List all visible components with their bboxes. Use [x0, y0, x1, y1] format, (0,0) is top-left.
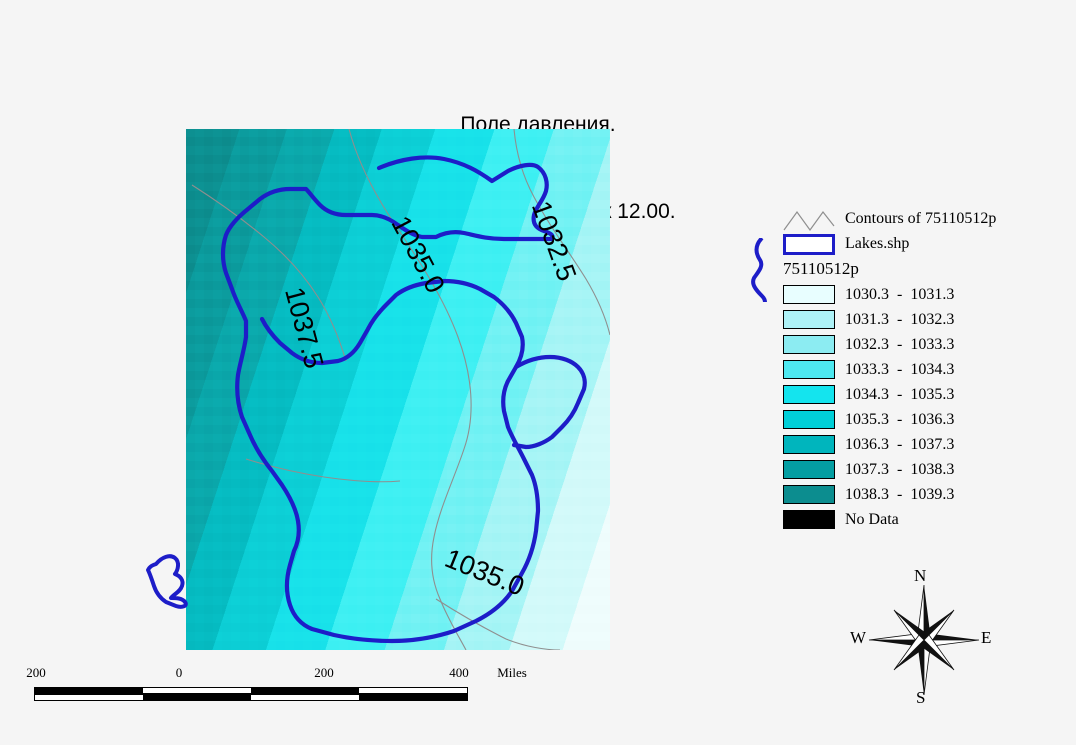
legend-class-label: 1032.3 - 1033.3 [845, 335, 954, 354]
scale-tick-1: 0 [176, 665, 183, 681]
legend-class-row[interactable]: 1033.3 - 1034.3 [783, 357, 1073, 382]
class-swatch-icon [783, 310, 835, 329]
class-swatch-icon [783, 510, 835, 529]
legend-class-label: 1031.3 - 1032.3 [845, 310, 954, 329]
legend-class-label: 1037.3 - 1038.3 [845, 460, 954, 479]
lake-polygon-legend-edge [748, 238, 774, 302]
legend-contours-label: Contours of 75110512p [845, 209, 996, 228]
class-swatch-icon [783, 335, 835, 354]
legend-class-row-no-data[interactable]: No Data [783, 507, 1073, 532]
class-swatch-icon [783, 285, 835, 304]
class-swatch-icon [783, 485, 835, 504]
scale-bar-labels: 200 0 200 400 Miles [34, 665, 554, 683]
legend-class-row[interactable]: 1035.3 - 1036.3 [783, 407, 1073, 432]
legend-class-row[interactable]: 1031.3 - 1032.3 [783, 307, 1073, 332]
scale-tick-3: 400 [449, 665, 469, 681]
legend-class-label: 1035.3 - 1036.3 [845, 410, 954, 429]
scale-cell [143, 688, 251, 693]
scale-bar-row-bottom [34, 694, 468, 701]
scale-cell [359, 688, 467, 693]
scale-tick-0: 200 [26, 665, 46, 681]
lake-polygon-southwest[interactable] [142, 548, 196, 614]
compass-label-south: S [916, 688, 925, 708]
scale-cell [251, 695, 359, 700]
compass-rose: N E S W [848, 566, 1000, 714]
class-swatch-icon [783, 410, 835, 429]
scale-cell [359, 695, 467, 700]
legend-class-row[interactable]: 1030.3 - 1031.3 [783, 282, 1073, 307]
scale-bar-row-top [34, 687, 468, 694]
map-canvas[interactable]: 1037.5 1035.0 1032.5 1035.0 [186, 129, 610, 650]
scale-bar-units: Miles [497, 665, 527, 681]
contour-line-icon [783, 209, 835, 228]
legend-item-lakes[interactable]: Lakes.shp [783, 231, 1073, 256]
legend-class-label: 1038.3 - 1039.3 [845, 485, 954, 504]
compass-label-west: W [850, 628, 866, 648]
legend-panel[interactable]: Contours of 75110512p Lakes.shp 75110512… [783, 206, 1073, 532]
legend-class-row[interactable]: 1038.3 - 1039.3 [783, 482, 1073, 507]
legend-class-label: No Data [845, 510, 899, 529]
legend-lakes-label: Lakes.shp [845, 234, 909, 253]
legend-layer-title: 75110512p [783, 256, 1073, 282]
lake-polygon-icon [783, 234, 835, 253]
legend-class-row[interactable]: 1032.3 - 1033.3 [783, 332, 1073, 357]
legend-class-label: 1030.3 - 1031.3 [845, 285, 954, 304]
legend-class-label: 1034.3 - 1035.3 [845, 385, 954, 404]
legend-class-row[interactable]: 1034.3 - 1035.3 [783, 382, 1073, 407]
scale-cell [251, 688, 359, 693]
scale-bar: 200 0 200 400 Miles [34, 665, 554, 701]
legend-class-row[interactable]: 1036.3 - 1037.3 [783, 432, 1073, 457]
class-swatch-icon [783, 460, 835, 479]
legend-item-contours[interactable]: Contours of 75110512p [783, 206, 1073, 231]
compass-label-east: E [981, 628, 991, 648]
scale-cell [35, 695, 143, 700]
scale-bar-graphic [34, 687, 468, 701]
scale-cell [143, 695, 251, 700]
compass-label-north: N [914, 566, 926, 586]
legend-class-row[interactable]: 1037.3 - 1038.3 [783, 457, 1073, 482]
class-swatch-icon [783, 360, 835, 379]
class-swatch-icon [783, 385, 835, 404]
legend-class-label: 1036.3 - 1037.3 [845, 435, 954, 454]
class-swatch-icon [783, 435, 835, 454]
scale-tick-2: 200 [314, 665, 334, 681]
legend-class-label: 1033.3 - 1034.3 [845, 360, 954, 379]
scale-cell [35, 688, 143, 693]
